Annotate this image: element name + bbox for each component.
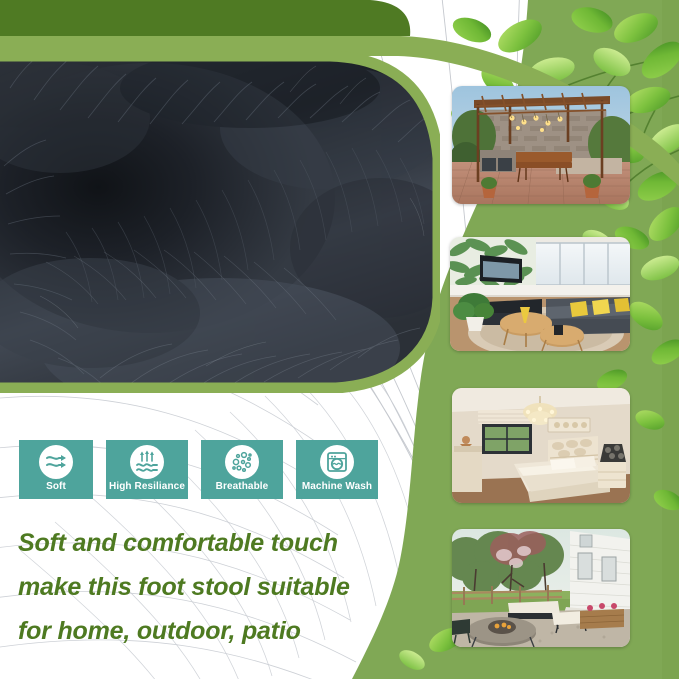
feature-badge-label: Machine Wash <box>302 482 372 492</box>
hero-product-photo <box>0 48 440 393</box>
soft-wave-arrows-icon <box>39 445 73 479</box>
machine-wash-washer-icon <box>320 445 354 479</box>
feature-badge-label: Soft <box>46 482 66 492</box>
backyard-patio-photo <box>452 529 630 647</box>
feature-badge-high-resiliance[interactable]: High Resiliance <box>106 440 188 499</box>
headline-line-1: Soft and comfortable touch <box>18 521 418 565</box>
feature-badge-soft[interactable]: Soft <box>19 440 93 499</box>
feature-badge-label: High Resiliance <box>109 482 185 492</box>
pergola-patio-photo <box>452 86 630 204</box>
living-room-photo <box>450 237 630 351</box>
breathable-bubbles-icon <box>225 445 259 479</box>
headline-line-2: make this foot stool suitable <box>18 565 418 609</box>
feature-badge-label: Breathable <box>216 482 269 492</box>
feature-badge-row: Soft Hi <box>19 440 378 499</box>
feature-badge-breathable[interactable]: Breathable <box>201 440 283 499</box>
high-resilience-arrows-wave-icon <box>130 445 164 479</box>
feature-badge-machine-wash[interactable]: Machine Wash <box>296 440 378 499</box>
headline-line-3: for home, outdoor, patio <box>18 609 418 653</box>
headline-text: Soft and comfortable touch make this foo… <box>18 521 418 653</box>
bedroom-photo <box>452 388 630 503</box>
product-marketing-image: Soft Hi <box>0 0 679 679</box>
